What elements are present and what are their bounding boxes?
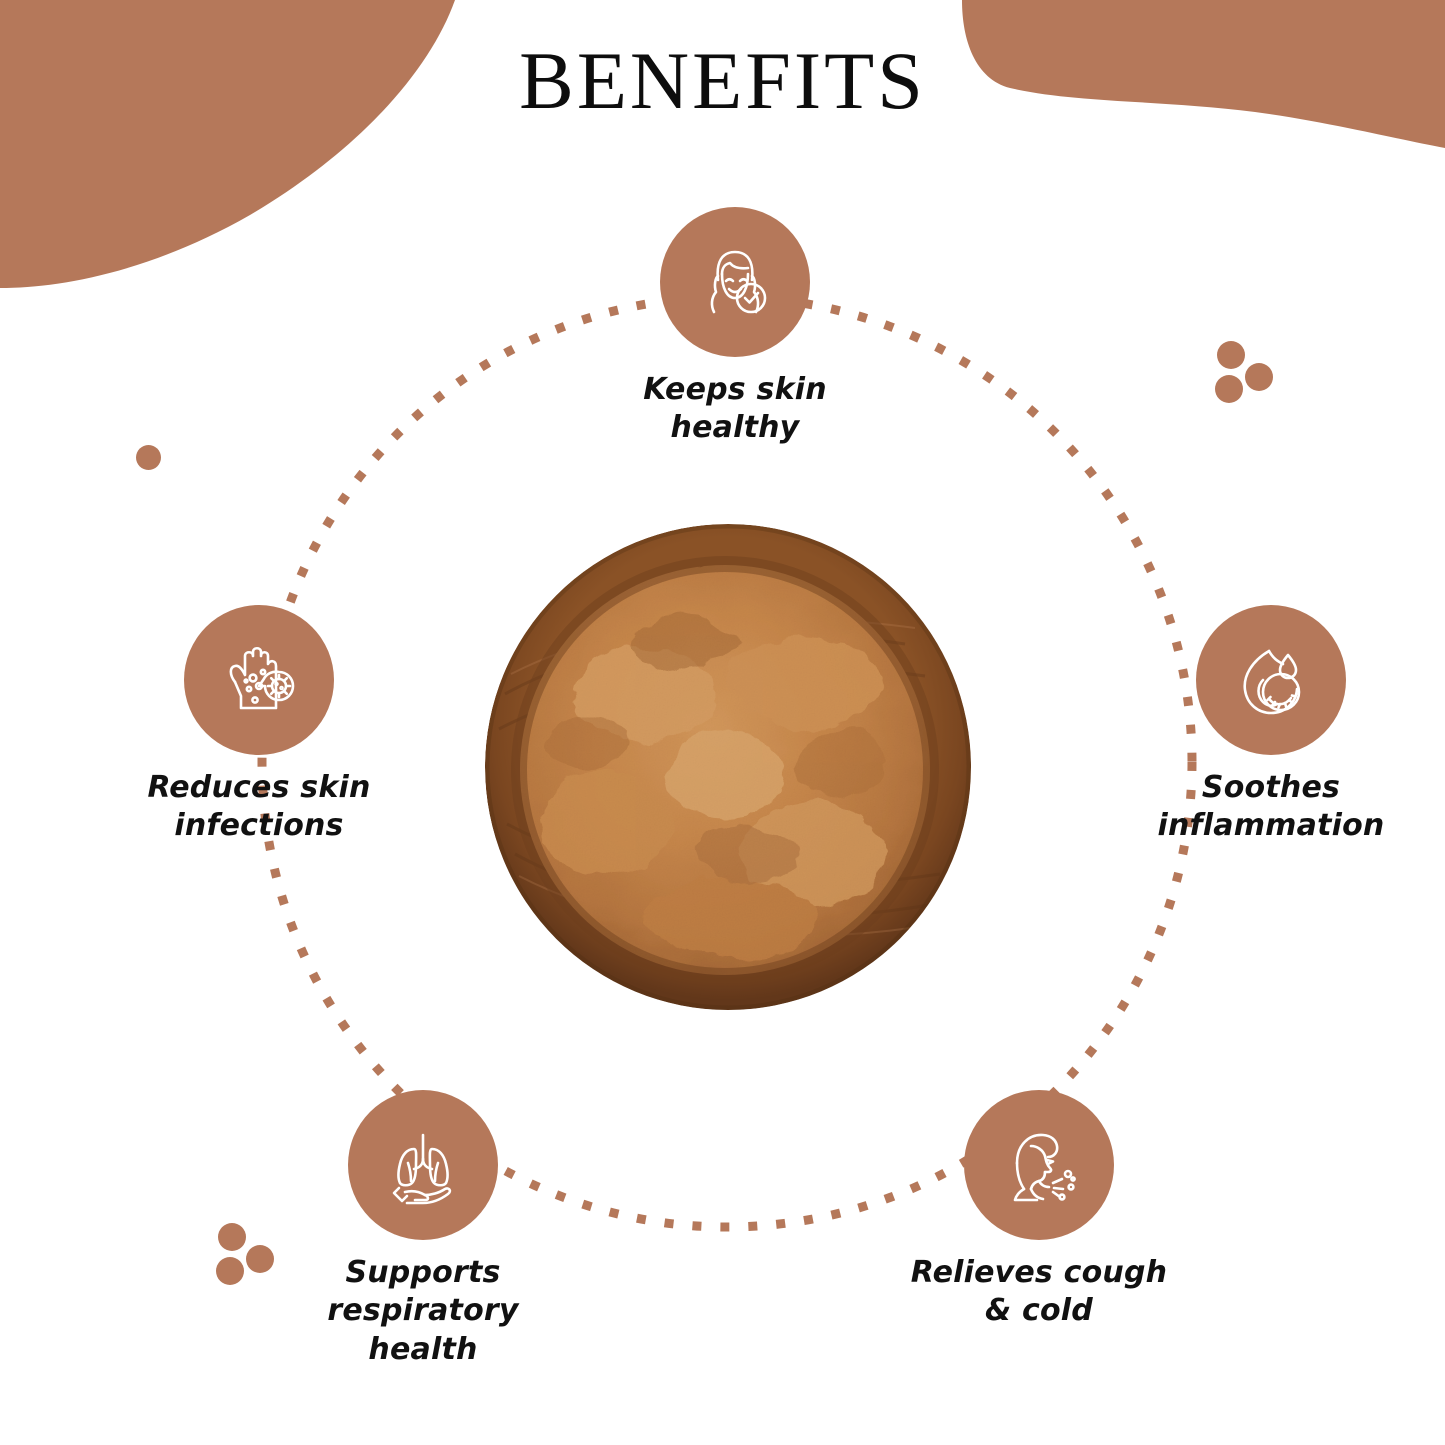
decorative-dot-left <box>136 445 161 470</box>
decorative-dot-top-right-3 <box>1215 375 1243 403</box>
decorative-dot-top-right-1 <box>1217 341 1245 369</box>
benefit-icon-badge[interactable] <box>184 605 334 755</box>
benefit-icon-badge[interactable] <box>348 1090 498 1240</box>
decorative-dot-bottom-left-3 <box>216 1257 244 1285</box>
benefit-icon-badge[interactable] <box>964 1090 1114 1240</box>
page-title: BENEFITS <box>0 34 1445 128</box>
decorative-dot-bottom-left-1 <box>218 1223 246 1251</box>
benefit-supports-respiratory-health[interactable]: Supports respiratory health <box>272 1090 574 1369</box>
flame-healing-wound-icon <box>1225 634 1317 726</box>
benefit-label: Supports respiratory health <box>272 1254 574 1369</box>
benefit-label: Soothes inflammation <box>1158 769 1385 846</box>
benefit-icon-badge[interactable] <box>1196 605 1346 755</box>
benefit-reduces-skin-infections[interactable]: Reduces skin infections <box>109 605 409 846</box>
benefit-icon-badge[interactable] <box>660 207 810 357</box>
benefit-label: Reduces skin infections <box>147 769 370 846</box>
benefit-label: Keeps skin healthy <box>643 371 827 448</box>
lungs-in-hand-icon <box>377 1119 469 1211</box>
product-image-bowl-of-powder <box>485 524 972 1011</box>
face-check-icon <box>689 236 781 328</box>
benefit-keeps-skin-healthy[interactable]: Keeps skin healthy <box>577 207 893 448</box>
benefit-relieves-cough-and-cold[interactable]: Relieves cough & cold <box>889 1090 1189 1331</box>
decorative-dot-bottom-left-2 <box>246 1245 274 1273</box>
decorative-dot-top-right-2 <box>1245 363 1273 391</box>
infographic-canvas: BENEFITS <box>0 0 1445 1445</box>
hand-rash-germ-icon <box>213 634 305 726</box>
benefit-soothes-inflammation[interactable]: Soothes inflammation <box>1121 605 1421 846</box>
benefit-label: Relieves cough & cold <box>911 1254 1167 1331</box>
person-coughing-icon <box>993 1119 1085 1211</box>
